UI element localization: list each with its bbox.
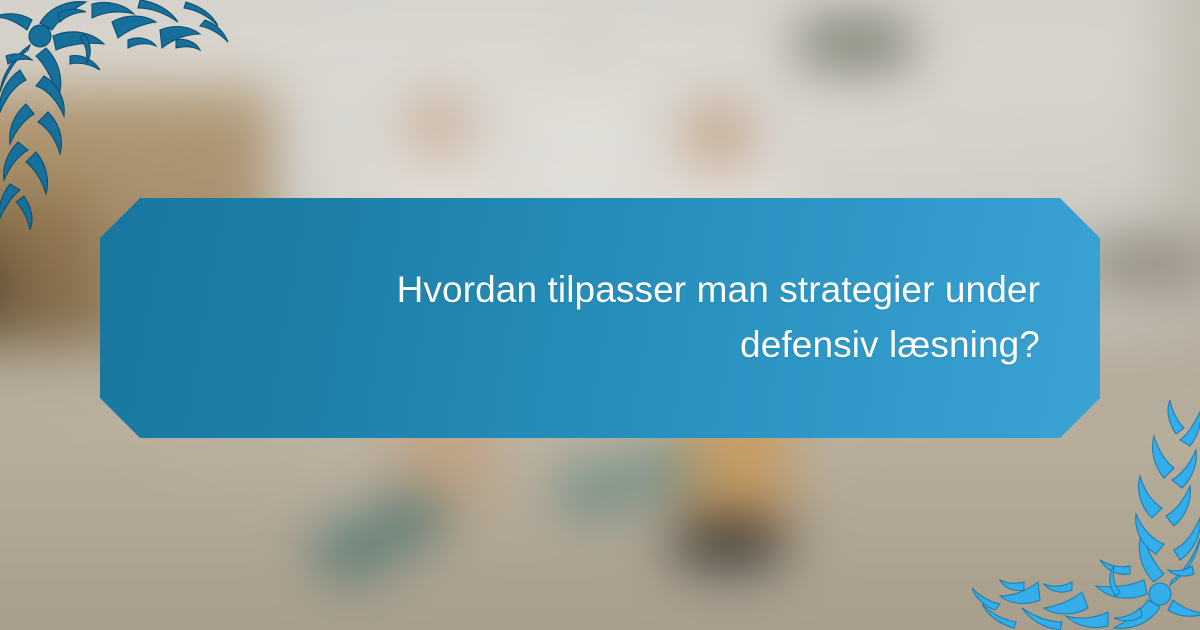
question-text: Hvordan tilpasser man strategier under d… <box>340 263 1040 373</box>
question-card: Hvordan tilpasser man strategier under d… <box>0 0 1200 630</box>
question-banner: Hvordan tilpasser man strategier under d… <box>100 198 1100 438</box>
